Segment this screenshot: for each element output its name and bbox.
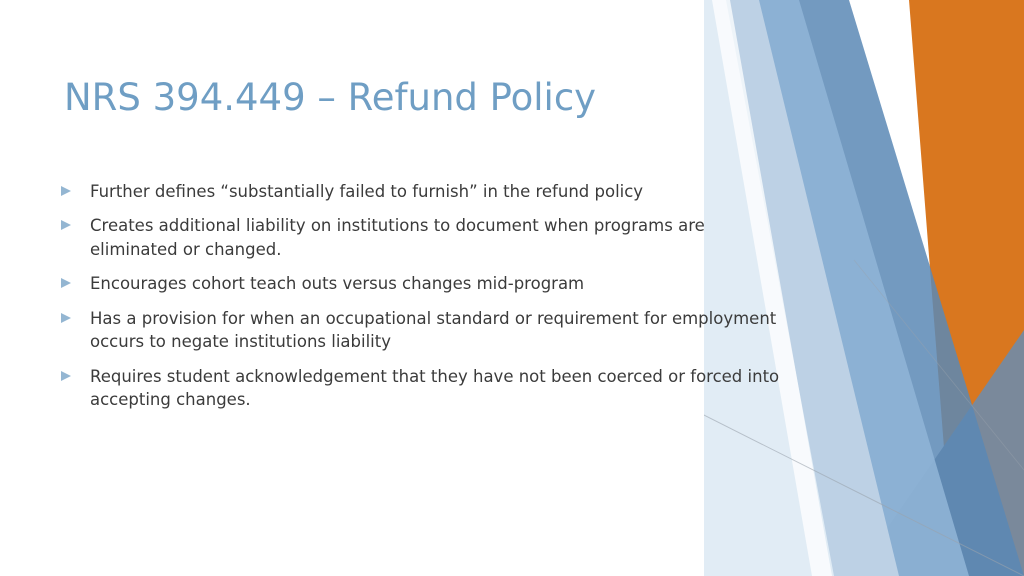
triangle-bullet-icon (60, 365, 90, 382)
page-title: NRS 394.449 – Refund Policy (64, 77, 764, 120)
list-item: Further defines “substantially failed to… (60, 180, 780, 203)
triangle-bullet-icon (60, 180, 90, 197)
list-item: Has a provision for when an occupational… (60, 307, 780, 354)
triangle-bullet-icon (60, 214, 90, 231)
slide: NRS 394.449 – Refund Policy Further defi… (0, 0, 1024, 576)
triangle-bullet-icon (60, 272, 90, 289)
list-item-text: Further defines “substantially failed to… (90, 180, 780, 203)
list-item: Requires student acknowledgement that th… (60, 365, 780, 412)
bullet-list: Further defines “substantially failed to… (60, 180, 780, 422)
list-item-text: Creates additional liability on institut… (90, 214, 780, 261)
triangle-bullet-icon (60, 307, 90, 324)
list-item-text: Requires student acknowledgement that th… (90, 365, 780, 412)
list-item-text: Has a provision for when an occupational… (90, 307, 780, 354)
list-item: Creates additional liability on institut… (60, 214, 780, 261)
list-item-text: Encourages cohort teach outs versus chan… (90, 272, 780, 295)
list-item: Encourages cohort teach outs versus chan… (60, 272, 780, 295)
